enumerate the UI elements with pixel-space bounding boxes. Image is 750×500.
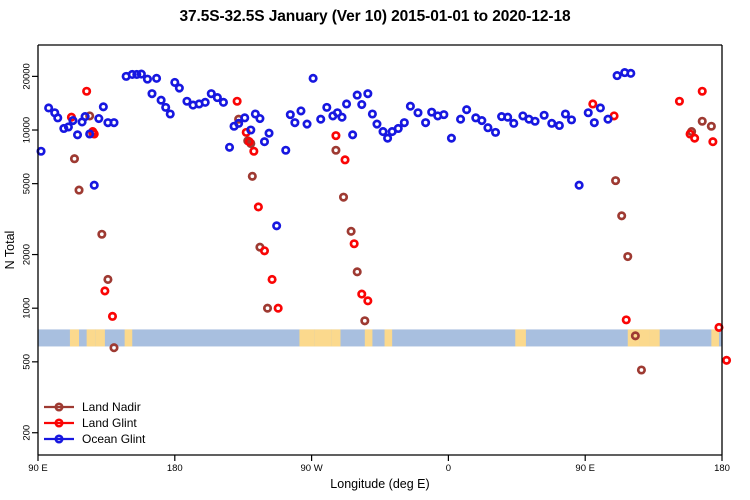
data-point	[380, 128, 386, 134]
data-point	[485, 125, 491, 131]
data-point	[541, 112, 547, 118]
data-point	[298, 108, 304, 114]
data-point	[422, 119, 428, 125]
data-point	[248, 127, 254, 133]
land-strip-segment	[87, 329, 96, 346]
data-point	[623, 317, 629, 323]
data-point	[91, 182, 97, 188]
y-tick-label: 2000	[22, 244, 33, 265]
land-strip-segment	[640, 329, 649, 346]
data-point	[96, 115, 102, 121]
data-point	[102, 288, 108, 294]
data-point	[220, 99, 226, 105]
land-strip-segment	[125, 329, 133, 346]
data-point	[395, 125, 401, 131]
y-tick-label: 20000	[22, 63, 33, 89]
data-point	[55, 115, 61, 121]
legend-item-label[interactable]: Land Nadir	[82, 400, 141, 414]
data-point	[76, 187, 82, 193]
data-point	[105, 276, 111, 282]
data-point	[549, 120, 555, 126]
data-point	[463, 107, 469, 113]
data-point	[638, 367, 644, 373]
data-point	[556, 122, 562, 128]
data-point	[504, 114, 510, 120]
data-point	[343, 101, 349, 107]
data-point	[324, 104, 330, 110]
data-point	[614, 72, 620, 78]
ocean-strip	[38, 329, 722, 346]
data-point	[99, 231, 105, 237]
data-point	[65, 124, 71, 130]
x-tick-label: 0	[446, 463, 451, 474]
data-point	[339, 114, 345, 120]
data-point	[708, 123, 714, 129]
data-point	[407, 103, 413, 109]
data-point	[716, 324, 722, 330]
data-point	[628, 70, 634, 76]
data-point	[292, 119, 298, 125]
data-point	[448, 135, 454, 141]
data-point	[576, 182, 582, 188]
data-point	[269, 276, 275, 282]
data-point	[699, 118, 705, 124]
data-point	[283, 147, 289, 153]
data-point	[144, 76, 150, 82]
y-tick-label: 5000	[22, 173, 33, 194]
data-point	[605, 116, 611, 122]
land-strip-segment	[96, 329, 105, 346]
data-point	[597, 105, 603, 111]
land-strip-segment	[299, 329, 314, 346]
data-point	[362, 318, 368, 324]
data-point	[249, 173, 255, 179]
data-point	[342, 157, 348, 163]
x-tick-label: 180	[714, 463, 730, 474]
data-point	[340, 194, 346, 200]
land-ocean-band	[38, 329, 722, 346]
land-strip-segment	[649, 329, 660, 346]
data-point	[234, 98, 240, 104]
data-point	[109, 313, 115, 319]
data-point	[590, 101, 596, 107]
data-point	[710, 138, 716, 144]
land-strip-segment	[515, 329, 526, 346]
chart-figure: 37.5S-32.5S January (Ver 10) 2015-01-01 …	[0, 0, 750, 500]
data-point	[275, 305, 281, 311]
data-point	[568, 117, 574, 123]
data-point	[354, 269, 360, 275]
data-point	[138, 71, 144, 77]
data-point	[333, 147, 339, 153]
data-point	[261, 248, 267, 254]
data-point	[153, 75, 159, 81]
data-point	[365, 90, 371, 96]
data-point	[585, 110, 591, 116]
data-point	[111, 119, 117, 125]
data-point	[176, 85, 182, 91]
data-point	[457, 116, 463, 122]
data-points	[38, 69, 730, 373]
data-point	[214, 94, 220, 100]
data-point	[401, 119, 407, 125]
data-point	[369, 111, 375, 117]
legend-item-label[interactable]: Land Glint	[82, 416, 137, 430]
y-tick-label: 200	[22, 425, 33, 441]
data-point	[479, 117, 485, 123]
data-point	[359, 291, 365, 297]
data-point	[257, 115, 263, 121]
x-tick-label: 90 W	[301, 463, 323, 474]
data-point	[723, 357, 729, 363]
data-point	[699, 88, 705, 94]
land-strip-segment	[711, 329, 719, 346]
data-point	[242, 115, 248, 121]
data-point	[374, 121, 380, 127]
x-axis-label: Longitude (deg E)	[330, 477, 429, 491]
data-point	[83, 88, 89, 94]
data-point	[384, 135, 390, 141]
data-point	[261, 138, 267, 144]
data-point	[359, 101, 365, 107]
land-strip-segment	[315, 329, 332, 346]
data-point	[562, 111, 568, 117]
data-point	[287, 111, 293, 117]
data-point	[264, 305, 270, 311]
y-tick-label: 500	[22, 354, 33, 370]
x-tick-label: 90 E	[28, 463, 48, 474]
data-point	[415, 110, 421, 116]
data-point	[492, 129, 498, 135]
data-point	[676, 98, 682, 104]
data-point	[310, 75, 316, 81]
y-tick-label: 10000	[22, 117, 33, 143]
land-strip-segment	[365, 329, 373, 346]
legend-item-label[interactable]: Ocean Glint	[82, 432, 146, 446]
data-point	[354, 92, 360, 98]
data-point	[266, 130, 272, 136]
data-point	[162, 104, 168, 110]
data-point	[618, 213, 624, 219]
data-point	[511, 120, 517, 126]
data-point	[38, 148, 44, 154]
data-point	[111, 345, 117, 351]
land-strip-segment	[331, 329, 340, 346]
plot-axes	[38, 45, 722, 455]
data-point	[351, 241, 357, 247]
data-point	[158, 97, 164, 103]
data-point	[149, 90, 155, 96]
land-strip-segment	[385, 329, 393, 346]
x-tick-label: 90 E	[575, 463, 595, 474]
data-point	[74, 132, 80, 138]
data-point	[348, 228, 354, 234]
data-point	[100, 104, 106, 110]
data-point	[612, 177, 618, 183]
data-point	[691, 135, 697, 141]
land-strip-segment	[70, 329, 79, 346]
y-tick-label: 1000	[22, 298, 33, 319]
data-point	[532, 118, 538, 124]
data-point	[45, 105, 51, 111]
y-axis-label: N Total	[3, 231, 17, 270]
data-point	[591, 119, 597, 125]
data-point	[202, 99, 208, 105]
data-point	[318, 116, 324, 122]
data-point	[255, 204, 261, 210]
data-point	[349, 132, 355, 138]
data-point	[441, 111, 447, 117]
data-point	[333, 132, 339, 138]
data-point	[71, 156, 77, 162]
chart-legend[interactable]: Land NadirLand GlintOcean Glint	[44, 400, 146, 446]
scatter-plot: 200500100020005000100002000090 E18090 W0…	[0, 0, 750, 500]
data-point	[365, 298, 371, 304]
data-point	[625, 253, 631, 259]
data-point	[167, 111, 173, 117]
data-point	[226, 144, 232, 150]
data-point	[304, 121, 310, 127]
x-tick-label: 180	[167, 463, 183, 474]
data-point	[82, 113, 88, 119]
data-point	[251, 148, 257, 154]
data-point	[273, 223, 279, 229]
